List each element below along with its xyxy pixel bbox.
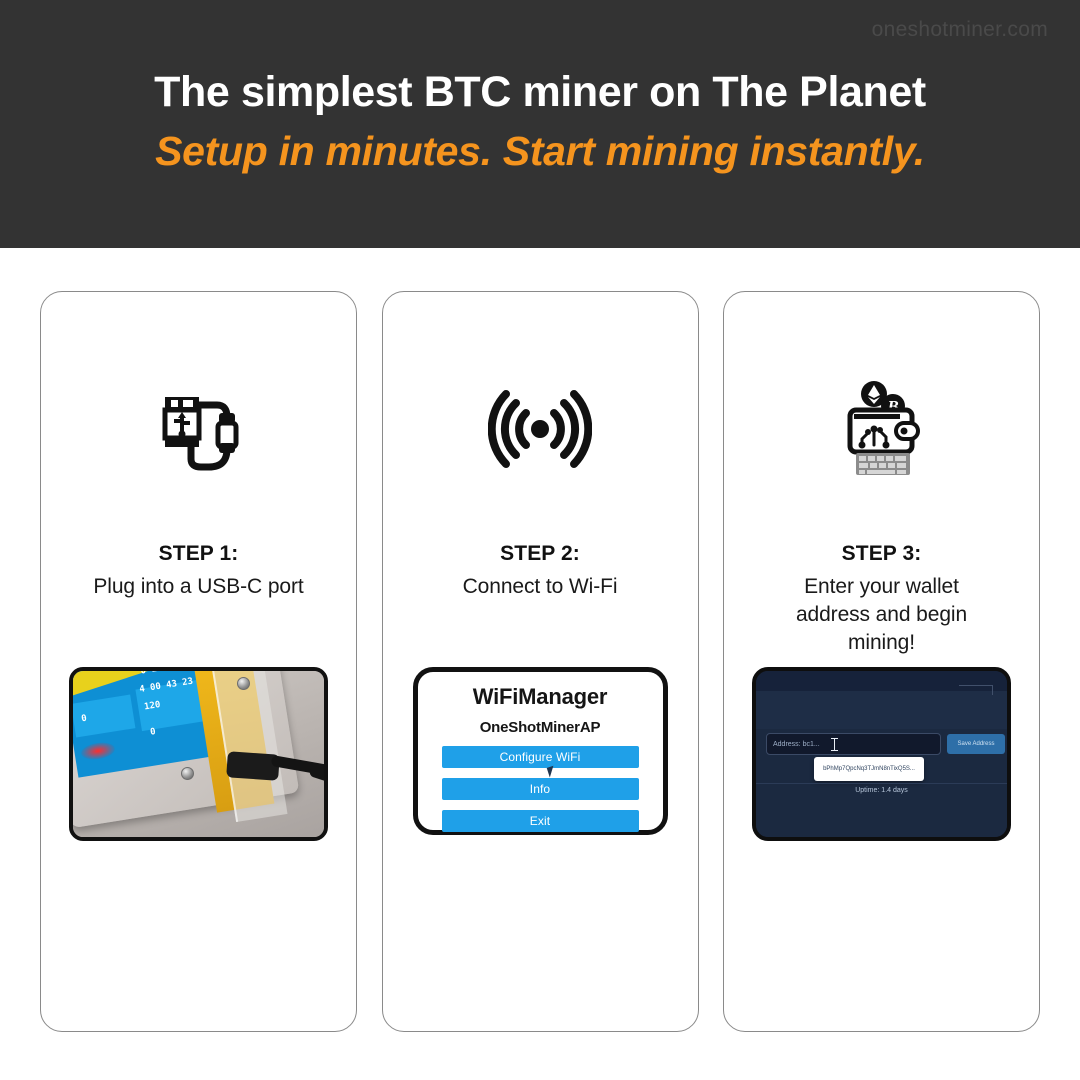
usb-c-plug <box>226 751 280 781</box>
device-photo: 0 13 4 00 43 23 120 0 0 <box>69 667 328 841</box>
step-title: STEP 2: <box>500 542 580 566</box>
usb-cable-icon <box>147 354 251 504</box>
wifimanager-title: WiFiManager <box>442 684 639 710</box>
divider <box>756 783 1007 784</box>
text-caret-icon <box>834 739 835 750</box>
media-slot: WiFiManager OneShotMinerAP Configure WiF… <box>413 667 668 1031</box>
promo-infographic: oneshotminer.com The simplest BTC miner … <box>0 0 1080 1080</box>
uptime-status: Uptime: 1.4 days <box>756 787 1007 794</box>
wifi-signal-icon <box>488 354 592 504</box>
wifimanager-ssid: OneShotMinerAP <box>442 719 639 736</box>
wallet-address-input[interactable]: Address: bc1... <box>766 733 941 755</box>
step-description: Enter your wallet address and begin mini… <box>774 573 989 657</box>
address-row: Address: bc1... Save Address <box>766 733 1005 755</box>
dashboard-lower-panel <box>756 799 1007 841</box>
media-slot: 0 13 4 00 43 23 120 0 0 <box>69 667 328 1031</box>
device-screw <box>237 677 250 690</box>
site-watermark: oneshotminer.com <box>872 18 1048 42</box>
step-card-3: B <box>723 291 1040 1032</box>
dashboard-stats-band <box>756 691 1007 729</box>
crypto-wallet-keyboard-icon: B <box>830 354 934 504</box>
configure-wifi-button[interactable]: Configure WiFi <box>442 746 639 768</box>
step-card-1: STEP 1: Plug into a USB-C port 0 13 4 00… <box>40 291 357 1032</box>
step-card-2: STEP 2: Connect to Wi-Fi WiFiManager One… <box>382 291 699 1032</box>
dashboard-screenshot: Address: bc1... Save Address bPhMp7QpcNq… <box>752 667 1011 841</box>
mouse-cursor-icon <box>546 765 560 778</box>
screen-digit: 0 13 <box>140 667 163 677</box>
wifimanager-screenshot: WiFiManager OneShotMinerAP Configure WiF… <box>413 667 668 835</box>
info-button[interactable]: Info <box>442 778 639 800</box>
save-address-button[interactable]: Save Address <box>947 734 1005 754</box>
step-title: STEP 3: <box>842 542 922 566</box>
exit-button[interactable]: Exit <box>442 810 639 832</box>
address-suggestion[interactable]: bPhMp7QpcNq3TJmN8nTixQ5S... <box>814 757 924 781</box>
media-slot: Address: bc1... Save Address bPhMp7QpcNq… <box>752 667 1011 1031</box>
step-title: STEP 1: <box>159 542 239 566</box>
page-subtitle: Setup in minutes. Start mining instantly… <box>0 128 1080 175</box>
header-banner: oneshotminer.com The simplest BTC miner … <box>0 0 1080 248</box>
page-title: The simplest BTC miner on The Planet <box>0 68 1080 117</box>
device-screw <box>181 767 194 780</box>
step-description: Connect to Wi-Fi <box>463 573 618 601</box>
dashboard-corner-accent <box>959 685 993 695</box>
step-description: Plug into a USB-C port <box>93 573 303 601</box>
steps-container: STEP 1: Plug into a USB-C port 0 13 4 00… <box>40 291 1040 1032</box>
